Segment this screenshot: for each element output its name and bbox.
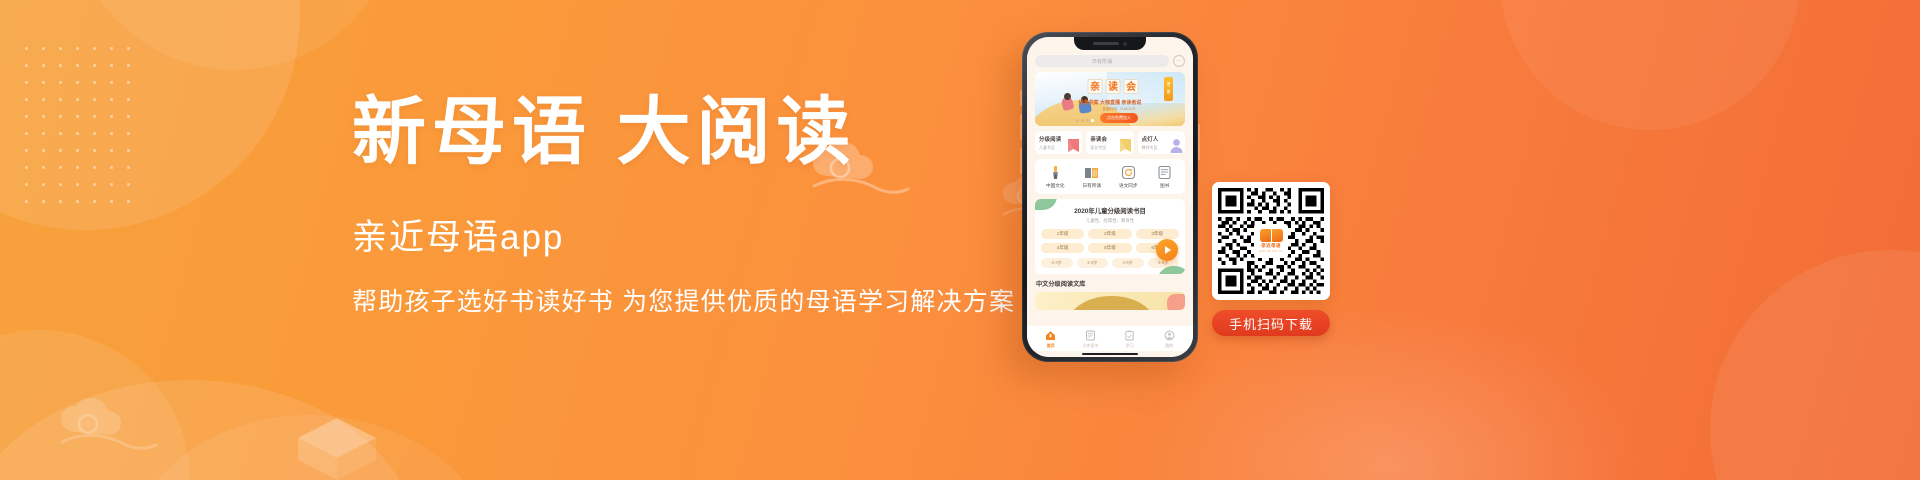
phone-front-camera-icon <box>1123 42 1127 46</box>
tab-label: 学习 <box>1126 343 1134 349</box>
hero-date: 直播时间：9.16-9.27 <box>1102 107 1135 112</box>
decorative-circle-bottom-left <box>0 330 190 480</box>
yellow-book-icon <box>1119 138 1132 153</box>
ink-brush-icon <box>1048 165 1063 180</box>
banner-copy: 新母语 大阅读 亲近母语app 帮助孩子选好书读好书 为您提供优质的母语学习解决… <box>352 92 1012 320</box>
phone-volume-up-button <box>1020 114 1022 140</box>
carousel-dot[interactable] <box>1081 119 1084 122</box>
hero-title-char-3: 会 <box>1124 79 1139 94</box>
tab-label: 小步读书 <box>1082 343 1098 349</box>
home-icon <box>1045 330 1056 341</box>
zone-card-row: 分级阅读 儿童专区 亲读会 家长专区 <box>1035 131 1185 154</box>
quick-entry-label: 图书 <box>1160 183 1169 189</box>
grade-chip[interactable]: 1年级 <box>1041 229 1084 239</box>
quick-entry-daily-recitation[interactable]: 日有所诵 <box>1074 165 1111 189</box>
hero-promo-card[interactable]: 亲 读 会 第二期 经典共案 大咖直播 亲读者说 直播时间：9.16-9.27 … <box>1035 72 1185 126</box>
booklist-card[interactable]: 2020年儿童分级阅读书目 儿童性、经典性、教育性 1年级 2年级 3年级 4年… <box>1035 199 1185 274</box>
tab-label: 我的 <box>1165 343 1173 349</box>
decorative-circle-top-left-2 <box>70 0 400 70</box>
brand-name: 亲近母语 <box>1261 243 1281 249</box>
quick-entry-label: 语文同步 <box>1119 183 1137 189</box>
carousel-dot-active[interactable] <box>1091 119 1094 122</box>
tab-label: 首页 <box>1047 343 1055 349</box>
app-screen: 日有所诵 ··· 亲 读 会 第二期 <box>1027 37 1193 357</box>
phone-mockup: 日有所诵 ··· 亲 读 会 第二期 <box>1022 32 1198 362</box>
library-thumb <box>1167 294 1185 310</box>
decorative-circle-right <box>1500 0 1800 130</box>
hero-title-char-1: 亲 <box>1088 79 1103 94</box>
library-section-title: 中文分级阅读文库 <box>1036 279 1185 288</box>
carousel-dots[interactable] <box>1076 119 1094 122</box>
age-chip[interactable]: 0-3岁 <box>1041 258 1073 268</box>
home-indicator <box>1082 353 1138 356</box>
banner-headline: 新母语 大阅读 <box>352 92 1012 175</box>
qr-center-logo: 亲近母语 QIN JIN MU YU <box>1254 224 1288 258</box>
decorative-glow <box>1130 300 1650 480</box>
grade-chip[interactable]: 4年级 <box>1041 243 1084 253</box>
play-triangle <box>1165 246 1171 254</box>
quick-entry-chinese-culture[interactable]: 中国文化 <box>1037 165 1074 189</box>
grade-chip[interactable]: 3年级 <box>1136 229 1179 239</box>
grade-chip[interactable]: 2年级 <box>1088 229 1131 239</box>
promo-banner: 新母语 大阅读 亲近母语app 帮助孩子选好书读好书 为您提供优质的母语学习解决… <box>0 0 1920 480</box>
quick-entry-books[interactable]: 图书 <box>1147 165 1184 189</box>
book-logo-icon <box>1260 229 1283 242</box>
library-arc <box>1068 296 1155 310</box>
tab-reading[interactable]: 小步读书 <box>1071 330 1111 349</box>
brand-pinyin: QIN JIN MU YU <box>1259 250 1282 253</box>
decorative-circle-top-left <box>0 0 300 230</box>
decorative-wave-left-2 <box>120 415 500 480</box>
bottom-tab-bar: 首页 小步读书 <box>1027 326 1193 351</box>
booklist-subtitle: 儿童性、经典性、教育性 <box>1041 218 1179 224</box>
banner-tagline: 帮助孩子选好书读好书 为您提供优质的母语学习解决方案 <box>352 286 1012 320</box>
clipboard-icon <box>1124 330 1135 341</box>
decorative-dot-grid <box>18 40 138 208</box>
carousel-dot[interactable] <box>1086 119 1089 122</box>
app-search-row: 日有所诵 ··· <box>1035 55 1185 67</box>
library-card[interactable] <box>1035 292 1185 310</box>
decorative-cloud-icon-3 <box>60 398 180 454</box>
tab-study[interactable]: 学习 <box>1110 330 1150 349</box>
reading-icon <box>1085 330 1096 341</box>
phone-mute-switch <box>1020 90 1022 106</box>
age-chip[interactable]: 3-4岁 <box>1077 258 1109 268</box>
refresh-square-icon <box>1121 165 1136 180</box>
quick-entry-chinese-sync[interactable]: 语文同步 <box>1110 165 1147 189</box>
booklist-title: 2020年儿童分级阅读书目 <box>1041 206 1179 215</box>
book-icon <box>1157 165 1172 180</box>
profile-icon <box>1164 330 1175 341</box>
qr-code: 亲近母语 QIN JIN MU YU <box>1212 182 1330 300</box>
zone-card-graded-reading[interactable]: 分级阅读 儿童专区 <box>1035 131 1082 154</box>
quick-entry-label: 中国文化 <box>1046 183 1064 189</box>
decorative-circle-bottom-right <box>1710 250 1920 480</box>
qr-canvas: 亲近母语 QIN JIN MU YU <box>1218 188 1324 294</box>
video-play-icon[interactable] <box>1156 239 1178 261</box>
age-chip[interactable]: 4-5岁 <box>1112 258 1144 268</box>
grade-chip[interactable]: 5年级 <box>1088 243 1131 253</box>
open-book-icon <box>1084 165 1099 180</box>
phone-notch <box>1074 37 1146 50</box>
zone-card-parent-club[interactable]: 亲读会 家长专区 <box>1086 131 1133 154</box>
red-book-icon <box>1067 138 1080 153</box>
book-logo-right-page <box>1272 229 1283 242</box>
banner-subtitle: 亲近母语app <box>352 215 1012 261</box>
phone-speaker <box>1093 42 1119 45</box>
search-input[interactable]: 日有所诵 <box>1035 55 1169 67</box>
carousel-dot[interactable] <box>1076 119 1079 122</box>
quick-entry-label: 日有所诵 <box>1083 183 1101 189</box>
age-chip-row: 0-3岁 3-4岁 4-5岁 5-6岁 <box>1041 258 1179 268</box>
phone-power-button <box>1198 124 1200 160</box>
hero-season-badge: 第二期 <box>1164 77 1173 101</box>
tab-home[interactable]: 首页 <box>1031 330 1071 349</box>
more-options-icon[interactable]: ··· <box>1173 55 1185 67</box>
phone-volume-down-button <box>1020 148 1022 174</box>
zone-card-teacher[interactable]: 点灯人 教师专区 <box>1138 131 1185 154</box>
hero-join-button[interactable]: 点击免费加入 <box>1100 113 1138 123</box>
quick-entry-row: 中国文化 日有所诵 <box>1035 159 1185 194</box>
book-logo-left-page <box>1260 229 1271 242</box>
tab-profile[interactable]: 我的 <box>1150 330 1190 349</box>
phone-screen-frame: 日有所诵 ··· 亲 读 会 第二期 <box>1027 37 1193 357</box>
hero-title: 亲 读 会 <box>1088 79 1139 94</box>
download-button[interactable]: 手机扫码下载 <box>1212 310 1330 336</box>
purple-person-icon <box>1170 138 1183 153</box>
decorative-wave-left <box>0 380 420 480</box>
hero-subtitle: 经典共案 大咖直播 亲读者说 <box>1079 99 1142 106</box>
hero-title-char-2: 读 <box>1106 79 1121 94</box>
decorative-cube-icon <box>298 418 376 480</box>
